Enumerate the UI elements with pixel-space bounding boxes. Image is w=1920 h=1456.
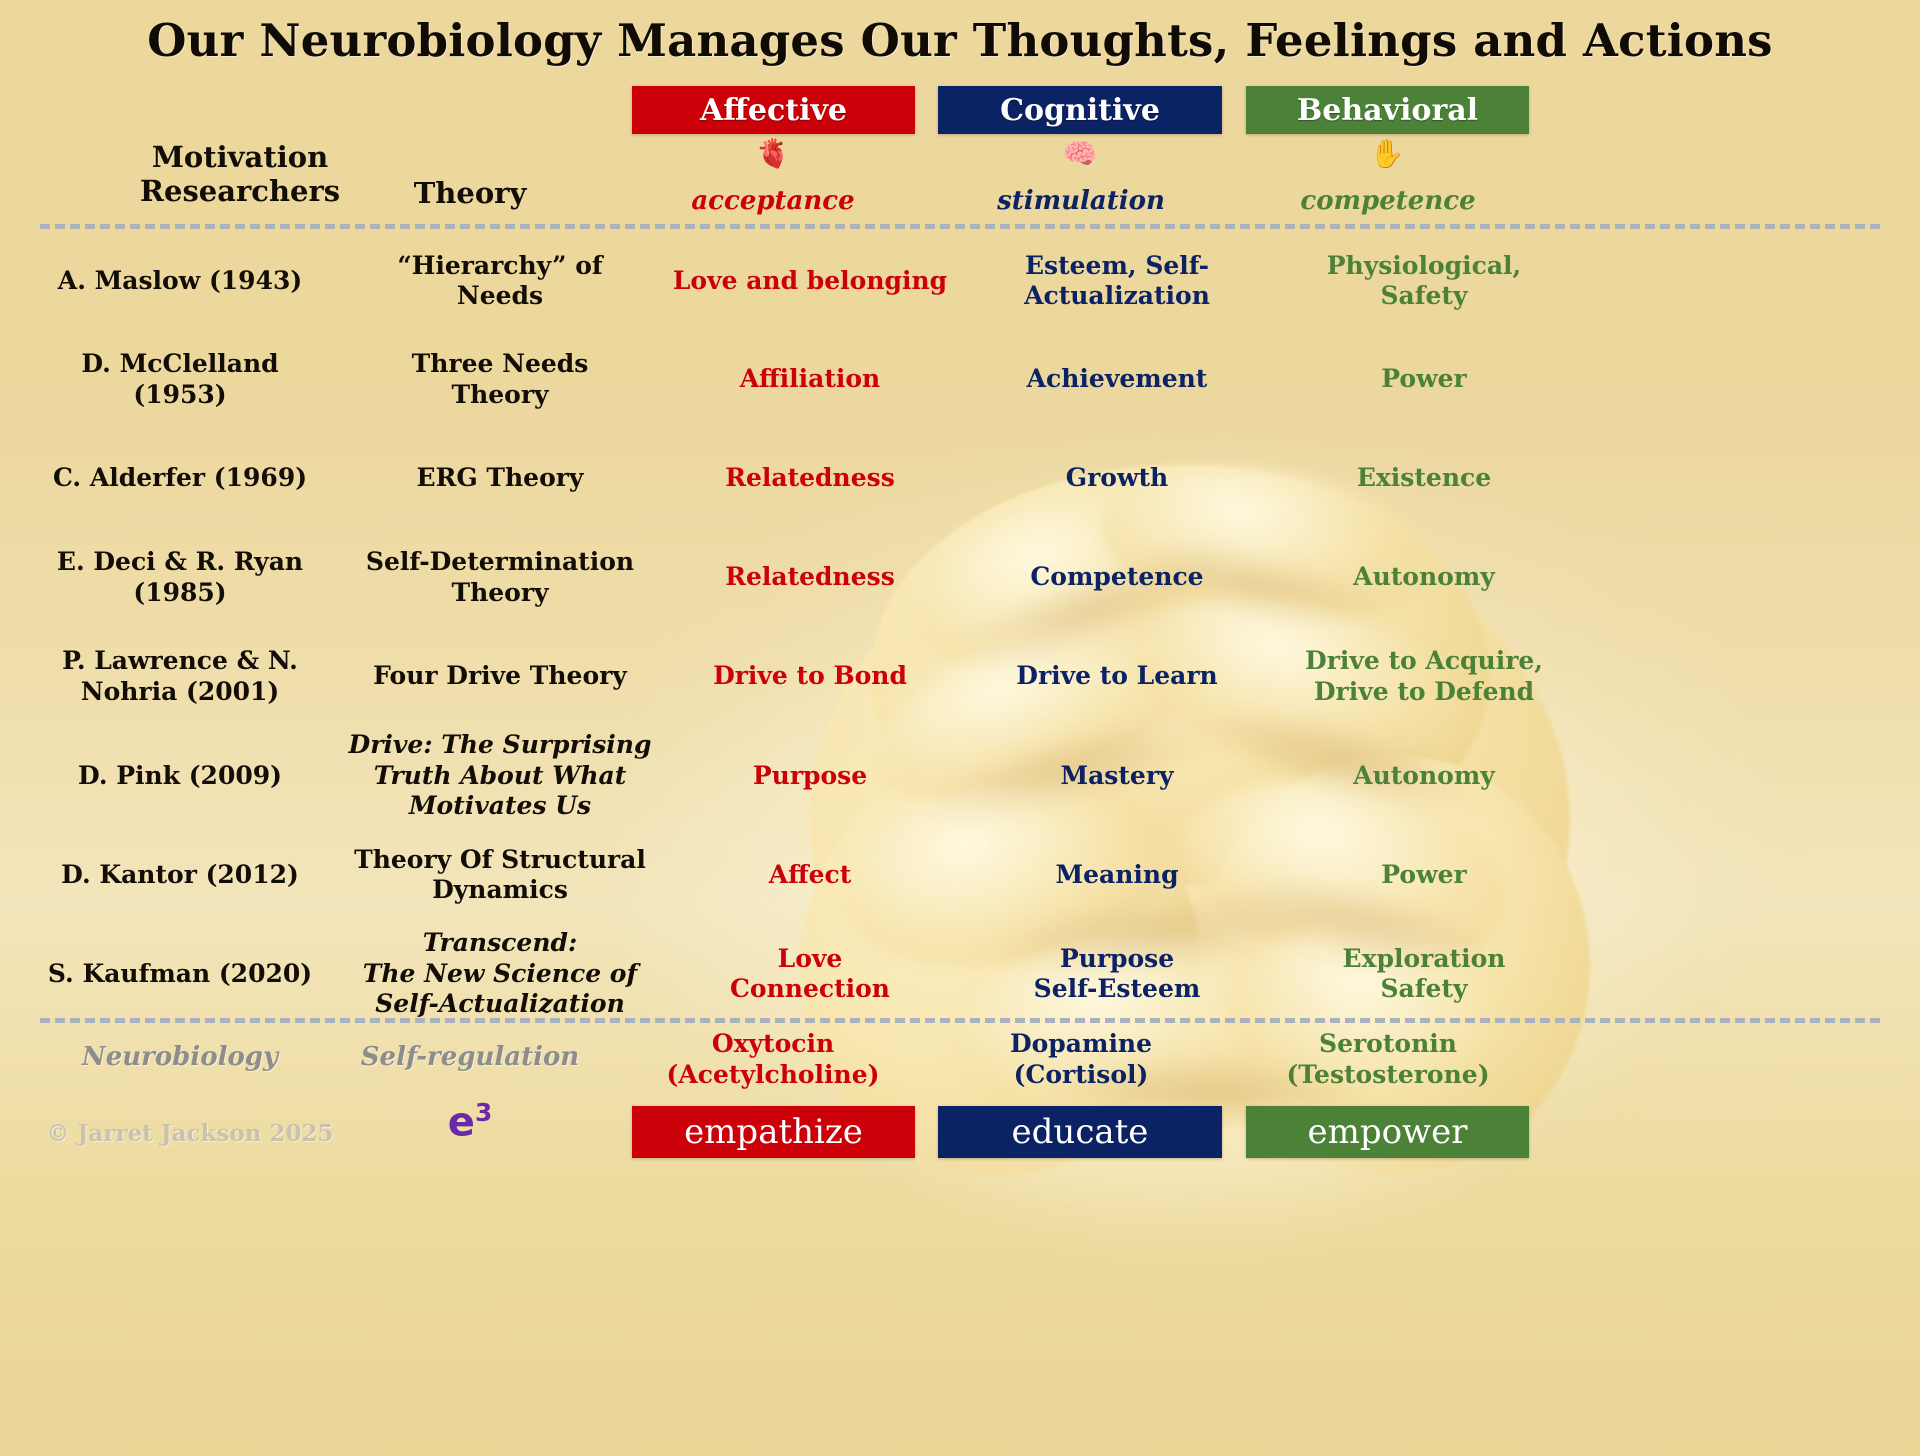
brain-icon: 🧠 xyxy=(1050,140,1110,168)
text-line: Love xyxy=(778,944,843,973)
cell-theory: Four Drive Theory xyxy=(330,661,670,692)
table-row[interactable]: S. Kaufman (2020)Transcend:The New Scien… xyxy=(0,924,1920,1024)
cell-behavioral: Autonomy xyxy=(1274,562,1574,593)
text-line: Safety xyxy=(1381,974,1468,1003)
text-line: Dopamine xyxy=(1010,1029,1152,1058)
text-line: (1953) xyxy=(133,380,226,409)
text-line: Meaning xyxy=(1055,860,1178,889)
cell-theory: Drive: The SurprisingTruth About WhatMot… xyxy=(330,730,670,822)
text-line: Relatedness xyxy=(725,463,895,492)
table-row[interactable]: A. Maslow (1943)“Hierarchy” ofNeedsLove … xyxy=(0,232,1920,330)
text-line: P. Lawrence & N. xyxy=(62,646,298,675)
text-line: Purpose xyxy=(753,761,867,790)
cell-cognitive: Mastery xyxy=(967,761,1267,792)
cell-cognitive: PurposeSelf-Esteem xyxy=(967,944,1267,1005)
chemical-behavioral: Serotonin(Testosterone) xyxy=(1238,1028,1538,1091)
cell-cognitive: Growth xyxy=(967,463,1267,494)
text-line: (Acetylcholine) xyxy=(667,1060,880,1089)
cell-affective: Affiliation xyxy=(660,364,960,395)
e3-logo: e3 xyxy=(300,1098,640,1145)
domain-keyword-behavioral: competence xyxy=(1238,186,1538,216)
text-line: Safety xyxy=(1381,281,1468,310)
text-line: C. Alderfer (1969) xyxy=(53,463,307,492)
cell-behavioral: Power xyxy=(1274,860,1574,891)
text-line: Connection xyxy=(730,974,890,1003)
cell-theory: Theory Of StructuralDynamics xyxy=(330,845,670,906)
text-line: Existence xyxy=(1357,463,1491,492)
text-line: Theory xyxy=(451,578,548,607)
text-line: Motivates Us xyxy=(409,791,591,820)
text-line: Theory Of Structural xyxy=(354,845,646,874)
chemical-cognitive: Dopamine(Cortisol) xyxy=(931,1028,1231,1091)
column-header-theory: Theory xyxy=(300,176,640,210)
cell-affective: Affect xyxy=(660,860,960,891)
divider-top xyxy=(40,224,1880,229)
text-line: Drive to Acquire, xyxy=(1305,646,1543,675)
text-line: Actualization xyxy=(1024,281,1210,310)
text-line: Love and belonging xyxy=(673,266,947,295)
action-button-empower[interactable]: empower xyxy=(1246,1106,1529,1158)
text-line: Drive to Defend xyxy=(1314,677,1534,706)
table-row[interactable]: D. Kantor (2012)Theory Of StructuralDyna… xyxy=(0,826,1920,924)
cell-affective: LoveConnection xyxy=(660,944,960,1005)
text-line: Competence xyxy=(1030,562,1203,591)
domain-header-behavioral[interactable]: Behavioral xyxy=(1246,86,1529,134)
text-line: Theory xyxy=(451,380,548,409)
cell-affective: Relatedness xyxy=(660,463,960,494)
text-line: Autonomy xyxy=(1353,761,1495,790)
text-line: Esteem, Self- xyxy=(1025,251,1209,280)
cell-affective: Love and belonging xyxy=(660,266,960,297)
cell-researcher: C. Alderfer (1969) xyxy=(30,463,330,494)
text-line: D. Pink (2009) xyxy=(78,761,282,790)
table-row[interactable]: D. Pink (2009)Drive: The SurprisingTruth… xyxy=(0,726,1920,826)
text-line: ERG Theory xyxy=(417,463,584,492)
cell-cognitive: Esteem, Self-Actualization xyxy=(967,251,1267,312)
cell-affective: Purpose xyxy=(660,761,960,792)
text-line: (1985) xyxy=(133,578,226,607)
text-line: Four Drive Theory xyxy=(373,661,627,690)
table-row[interactable]: D. McClelland(1953)Three NeedsTheoryAffi… xyxy=(0,330,1920,429)
action-button-educate[interactable]: educate xyxy=(938,1106,1222,1158)
text-line: Drive to Bond xyxy=(713,661,907,690)
domain-keyword-affective: acceptance xyxy=(623,186,923,216)
text-line: Power xyxy=(1381,860,1466,889)
cell-theory: Self-DeterminationTheory xyxy=(330,547,670,608)
page-title: Our Neurobiology Manages Our Thoughts, F… xyxy=(0,14,1920,67)
text-line: Relatedness xyxy=(725,562,895,591)
table-row[interactable]: C. Alderfer (1969)ERG TheoryRelatednessG… xyxy=(0,429,1920,528)
self-regulation-label: Self-regulation xyxy=(300,1042,640,1072)
text-line: (Cortisol) xyxy=(1014,1060,1149,1089)
chemical-affective: Oxytocin(Acetylcholine) xyxy=(623,1028,923,1091)
neurobiology-label: Neurobiology xyxy=(30,1042,330,1072)
cell-behavioral: Existence xyxy=(1274,463,1574,494)
domain-header-affective[interactable]: Affective xyxy=(632,86,915,134)
cell-researcher: A. Maslow (1943) xyxy=(30,266,330,297)
logo-exponent: 3 xyxy=(475,1098,492,1127)
cell-behavioral: ExplorationSafety xyxy=(1274,944,1574,1005)
text-line: Affect xyxy=(769,860,852,889)
cell-researcher: P. Lawrence & N.Nohria (2001) xyxy=(30,646,330,707)
cell-theory: ERG Theory xyxy=(330,463,670,494)
text-line: Needs xyxy=(457,281,543,310)
text-line: Drive to Learn xyxy=(1016,661,1217,690)
text-line: Autonomy xyxy=(1353,562,1495,591)
text-line: The New Science of xyxy=(363,959,638,988)
text-line: “Hierarchy” of xyxy=(397,251,602,280)
text-line: Exploration xyxy=(1343,944,1506,973)
table-row[interactable]: E. Deci & R. Ryan(1985)Self-Determinatio… xyxy=(0,528,1920,627)
text-line: Physiological, xyxy=(1327,251,1522,280)
text-line: Three Needs xyxy=(412,349,589,378)
text-line: Achievement xyxy=(1027,364,1208,393)
text-line: Serotonin xyxy=(1319,1029,1457,1058)
domain-keyword-cognitive: stimulation xyxy=(931,186,1231,216)
text-line: D. Kantor (2012) xyxy=(61,860,299,889)
cell-researcher: D. McClelland(1953) xyxy=(30,349,330,410)
cell-affective: Drive to Bond xyxy=(660,661,960,692)
cell-theory: Three NeedsTheory xyxy=(330,349,670,410)
text-line: Dynamics xyxy=(432,875,568,904)
text-line: Growth xyxy=(1066,463,1168,492)
infographic-poster: Our Neurobiology Manages Our Thoughts, F… xyxy=(0,0,1920,1456)
text-line: Power xyxy=(1381,364,1466,393)
cell-cognitive: Competence xyxy=(967,562,1267,593)
text-line: Affiliation xyxy=(740,364,881,393)
action-button-empathize[interactable]: empathize xyxy=(632,1106,915,1158)
text-line: S. Kaufman (2020) xyxy=(48,959,312,988)
cell-researcher: S. Kaufman (2020) xyxy=(30,959,330,990)
text-line: Nohria (2001) xyxy=(81,677,280,706)
cell-theory: “Hierarchy” ofNeeds xyxy=(330,251,670,312)
text-line: D. McClelland xyxy=(81,349,278,378)
text-line: A. Maslow (1943) xyxy=(58,266,302,295)
cell-behavioral: Physiological,Safety xyxy=(1274,251,1574,312)
cell-behavioral: Drive to Acquire,Drive to Defend xyxy=(1274,646,1574,707)
table-row[interactable]: P. Lawrence & N.Nohria (2001)Four Drive … xyxy=(0,627,1920,726)
text-line: Self-Determination xyxy=(366,547,634,576)
cell-researcher: D. Pink (2009) xyxy=(30,761,330,792)
logo-base: e xyxy=(448,1099,475,1145)
cell-researcher: E. Deci & R. Ryan(1985) xyxy=(30,547,330,608)
theory-table: A. Maslow (1943)“Hierarchy” ofNeedsLove … xyxy=(0,232,1920,1024)
text-line: Drive: The Surprising xyxy=(349,730,652,759)
text-line: Truth About What xyxy=(374,761,627,790)
cell-behavioral: Autonomy xyxy=(1274,761,1574,792)
text-line: Self-Esteem xyxy=(1034,974,1201,1003)
text-line: E. Deci & R. Ryan xyxy=(57,547,303,576)
domain-header-cognitive[interactable]: Cognitive xyxy=(938,86,1222,134)
text-line: Mastery xyxy=(1060,761,1173,790)
cell-cognitive: Meaning xyxy=(967,860,1267,891)
raised-hand-icon: ✋ xyxy=(1357,140,1417,168)
cell-cognitive: Achievement xyxy=(967,364,1267,395)
text-line: Purpose xyxy=(1060,944,1174,973)
text-line: Oxytocin xyxy=(712,1029,834,1058)
text-line: Self-Actualization xyxy=(375,989,625,1018)
text-line: (Testosterone) xyxy=(1286,1060,1489,1089)
cell-theory: Transcend:The New Science ofSelf-Actuali… xyxy=(330,928,670,1020)
column-header-researchers-line1: Motivation xyxy=(152,140,328,174)
cell-cognitive: Drive to Learn xyxy=(967,661,1267,692)
cell-affective: Relatedness xyxy=(660,562,960,593)
text-line: Transcend: xyxy=(423,928,577,957)
anatomical-heart-icon: 🫀 xyxy=(743,140,803,168)
cell-behavioral: Power xyxy=(1274,364,1574,395)
cell-researcher: D. Kantor (2012) xyxy=(30,860,330,891)
